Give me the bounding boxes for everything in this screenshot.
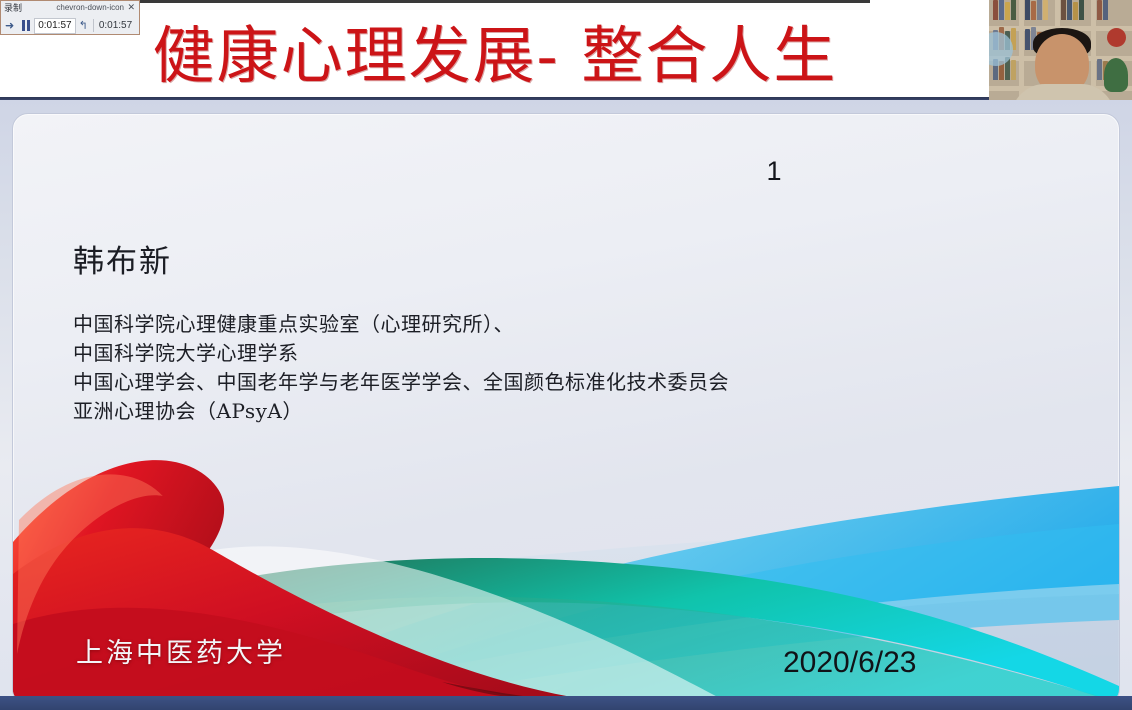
slide-title-banner: 健康心理发展- 整合人生 [0,0,990,100]
affiliation-line: 亚洲心理协会（APsyA） [73,397,973,426]
author-name: 韩布新 [73,236,172,281]
affiliation-line: 中国科学院心理健康重点实验室（心理研究所）、 [73,310,973,339]
banner-top-rule [62,0,870,3]
slide-bottom-bar [0,696,1132,710]
affiliation-line: 中国心理学会、中国老年学与老年医学学会、全国颜色标准化技术委员会 [73,368,973,397]
recording-controls[interactable]: ➜ 0:01:57 ↰ 0:01:57 [1,16,139,35]
recording-toolbar-title: 录制 [4,1,22,15]
close-icon[interactable]: ✕ [127,1,135,14]
slide-page-number: 1 [13,156,1119,187]
shelf-plant [1104,58,1128,92]
total-time-label: 0:01:57 [96,19,135,33]
pause-icon[interactable] [18,20,34,31]
elapsed-time-field[interactable]: 0:01:57 [34,18,75,34]
screen-share-view: 健康心理发展- 整合人生 [0,0,1132,710]
presentation-title: 健康心理发展- 整合人生 [0,4,990,96]
recording-toolbar-titlebar[interactable]: 录制 chevron-down-icon ✕ [1,1,139,15]
wall-ornament [1107,28,1126,47]
next-slide-icon[interactable]: ➜ [1,17,18,35]
slide-canvas[interactable]: 1 韩布新 中国科学院心理健康重点实验室（心理研究所）、 中国科学院大学心理学系… [12,113,1120,705]
university-name: 上海中医药大学 [76,631,286,670]
affiliation-line: 中国科学院大学心理学系 [73,339,973,368]
chevron-down-icon[interactable]: chevron-down-icon [56,2,124,14]
recording-toolbar[interactable]: 录制 chevron-down-icon ✕ ➜ 0:01:57 ↰ 0:01:… [0,0,140,35]
undo-icon[interactable]: ↰ [76,19,91,32]
toolbar-divider [93,19,94,32]
slide-date: 2020/6/23 [783,646,916,680]
affiliation-list: 中国科学院心理健康重点实验室（心理研究所）、 中国科学院大学心理学系 中国心理学… [73,310,973,426]
